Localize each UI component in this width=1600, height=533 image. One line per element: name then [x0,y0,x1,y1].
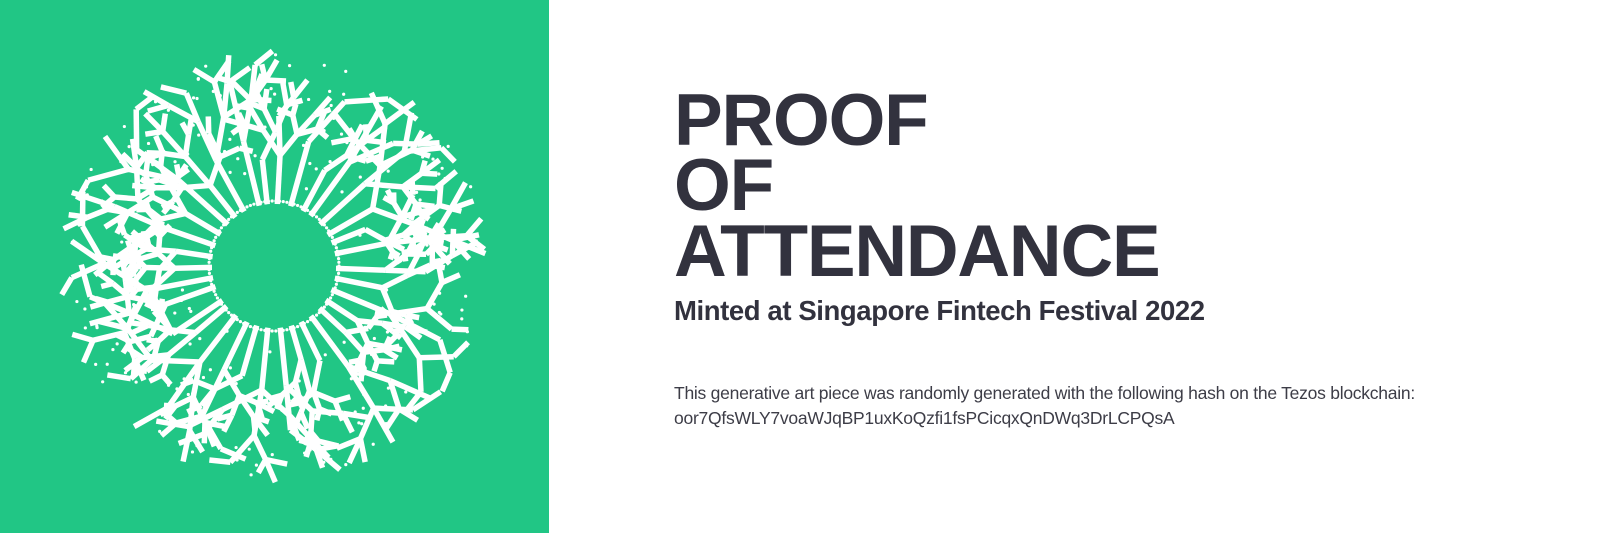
description-intro-text: This generative art piece was randomly g… [674,381,1554,406]
certificate-title: PROOF OF ATTENDANCE [674,88,1494,284]
blockchain-hash-value: oor7QfsWLY7voaWJqBP1uxKoQzfi1fsPCicqxQnD… [674,406,1554,431]
title-line-3: ATTENDANCE [674,219,1494,284]
certificate-text-panel: PROOF OF ATTENDANCE Minted at Singapore … [549,0,1600,533]
generative-artwork-panel [0,0,549,533]
proof-of-attendance-certificate: PROOF OF ATTENDANCE Minted at Singapore … [0,0,1600,533]
title-line-1: PROOF [674,88,1494,153]
certificate-subtitle: Minted at Singapore Fintech Festival 202… [674,297,1205,326]
certificate-description: This generative art piece was randomly g… [674,381,1554,431]
title-line-2: OF [674,153,1494,218]
radial-branch-artwork [0,0,549,533]
